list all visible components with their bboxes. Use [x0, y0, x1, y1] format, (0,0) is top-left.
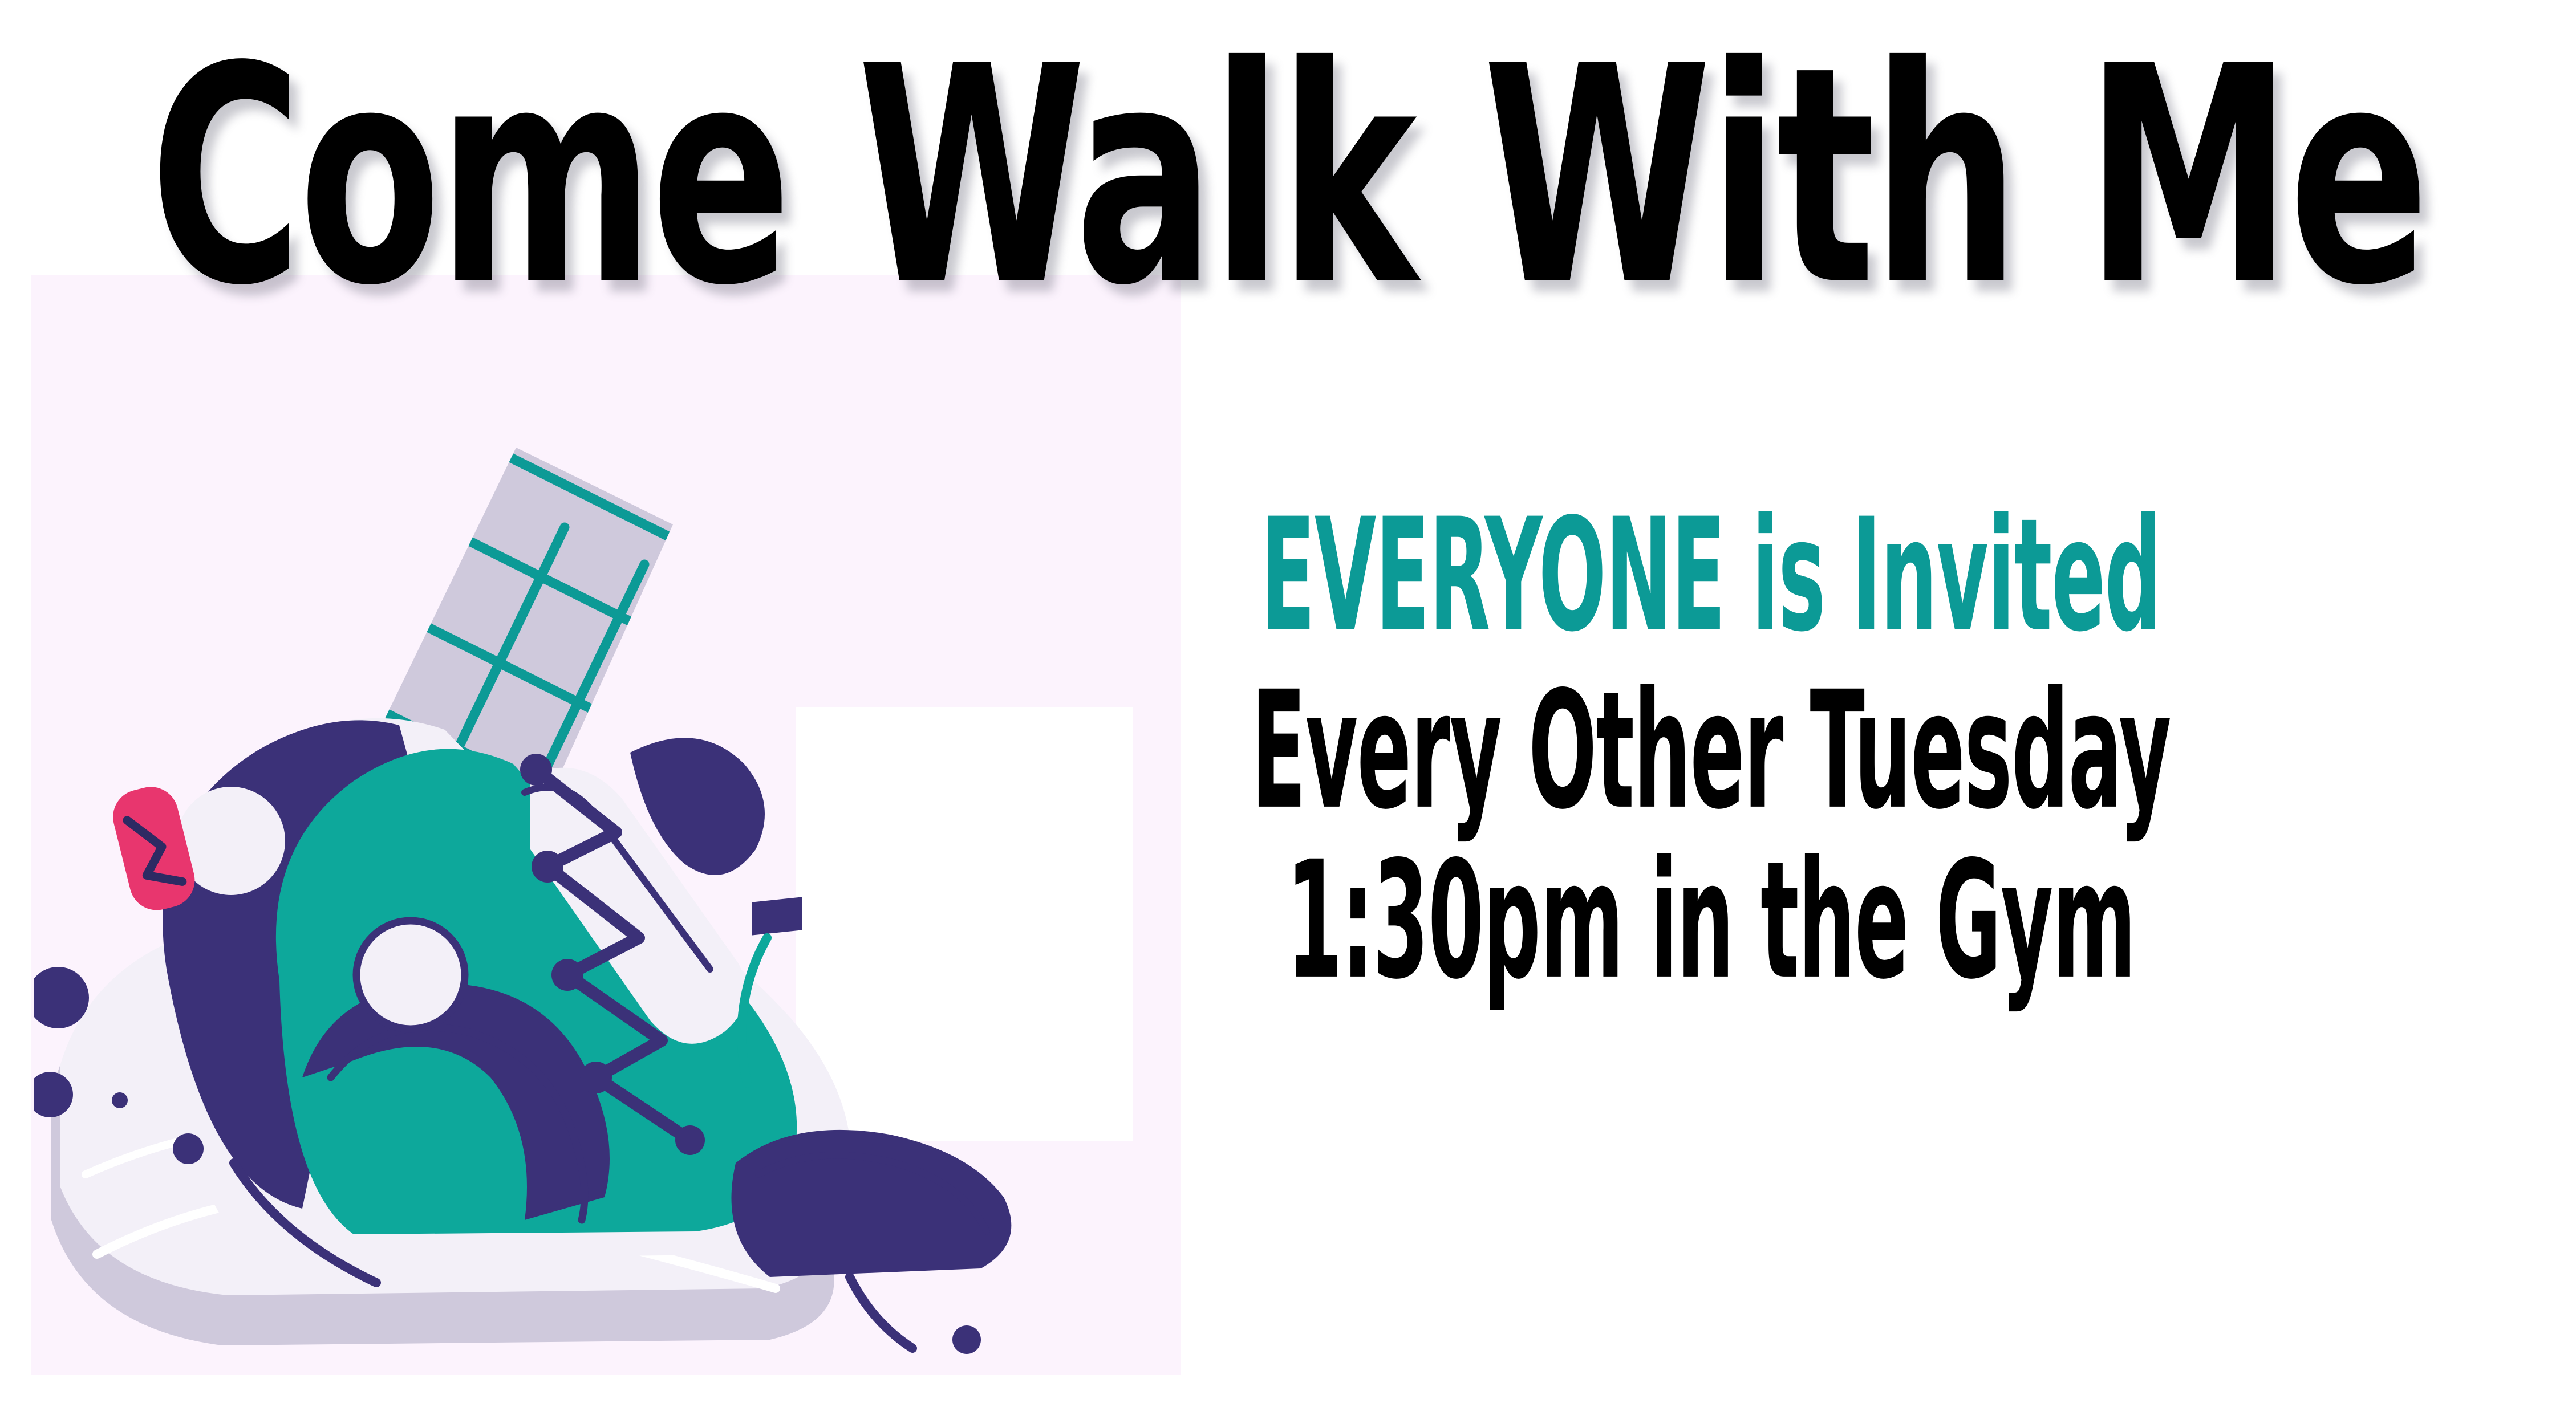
event-day-line: Every Other Tuesday [1103, 670, 2318, 832]
event-time-line: 1:30pm in the Gym [1103, 840, 2318, 1002]
event-details: EVERYONE is Invited Every Other Tuesday … [890, 516, 2532, 981]
circle-logo [356, 921, 465, 1029]
poster-canvas: Come Walk With Me EVERYONE is Invited Ev… [0, 0, 2576, 1411]
page-title: Come Walk With Me [78, 35, 2499, 319]
heel-tab [107, 781, 201, 916]
invitation-line: EVERYONE is Invited [1103, 498, 2318, 654]
